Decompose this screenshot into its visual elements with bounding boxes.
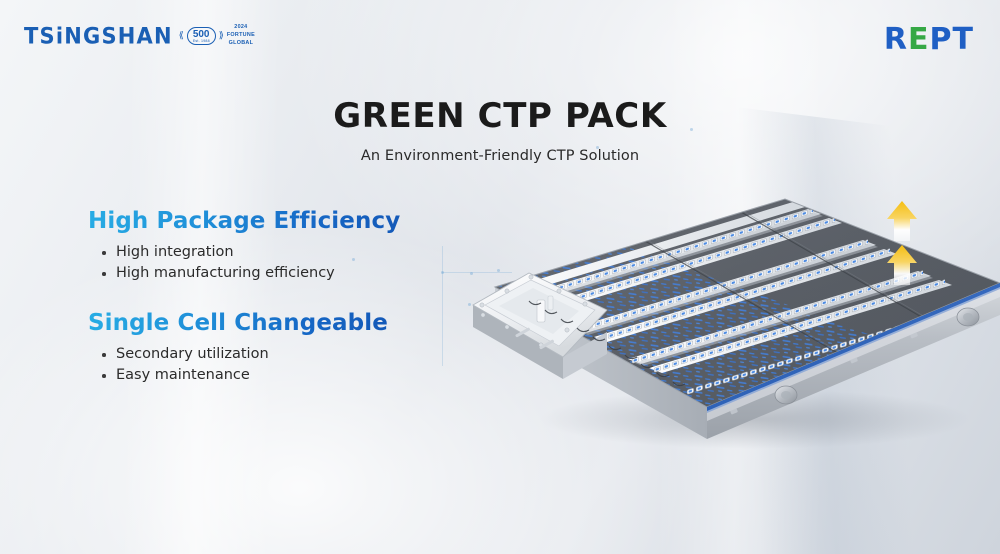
rept-letter-p: P [930,22,953,57]
badge-sub: Est. 1988 [193,40,210,44]
feature-heading-high-package-efficiency: High Package Efficiency [88,208,400,234]
list-item: High manufacturing efficiency [102,263,418,284]
feature-heading-single-cell-changeable: Single Cell Changeable [88,310,388,336]
fortune-global-500-badge: ⟪ 500 Est. 1988 ⟫ 2024 FORTUNE GLOBAL [179,24,255,47]
pack-connector-boss-2 [957,308,979,326]
decor-dot-1 [441,271,444,274]
badge-number: 500 Est. 1988 [187,27,216,46]
slide-root: TSiNGSHAN ⟪ 500 Est. 1988 ⟫ 2024 FORTUNE… [0,0,1000,554]
rept-letter-t: T [953,22,974,57]
venting-arrow-upper [887,201,917,241]
decor-line-vertical [442,246,443,366]
pack-connector-boss-1 [775,386,797,404]
page-title: GREEN CTP PACK [0,96,1000,136]
fortune-global-text: 2024 FORTUNE GLOBAL [227,24,255,47]
tsingshan-wordmark: TSiNGSHAN [24,23,173,48]
tsingshan-logo: TSiNGSHAN ⟪ 500 Est. 1988 ⟫ 2024 FORTUNE… [24,24,255,48]
laurel-left-icon: ⟪ [179,31,184,40]
fortune-line1: FORTUNE [227,32,255,38]
fortune-year: 2024 [234,24,247,30]
battery-pack-figure [455,175,1000,455]
page-subtitle: An Environment-Friendly CTP Solution [0,148,1000,164]
title-block: GREEN CTP PACK An Environment-Friendly C… [0,96,1000,164]
rept-logo: REPT [884,22,974,57]
rept-letter-e: E [908,22,930,57]
laurel-right-icon: ⟫ [219,31,224,40]
fortune-line2: GLOBAL [229,40,254,46]
feature-list: High Package Efficiency High integration… [88,208,418,412]
feature-block-2: Single Cell Changeable Secondary utiliza… [88,310,418,386]
feature-bullets-2: Secondary utilization Easy maintenance [88,344,418,386]
feature-block-1: High Package Efficiency High integration… [88,208,418,284]
battery-pack-svg [455,175,1000,455]
list-item: High integration [102,242,418,263]
list-item: Secondary utilization [102,344,418,365]
feature-bullets-1: High integration High manufacturing effi… [88,242,418,284]
rept-letter-r: R [884,22,908,57]
list-item: Easy maintenance [102,365,418,386]
